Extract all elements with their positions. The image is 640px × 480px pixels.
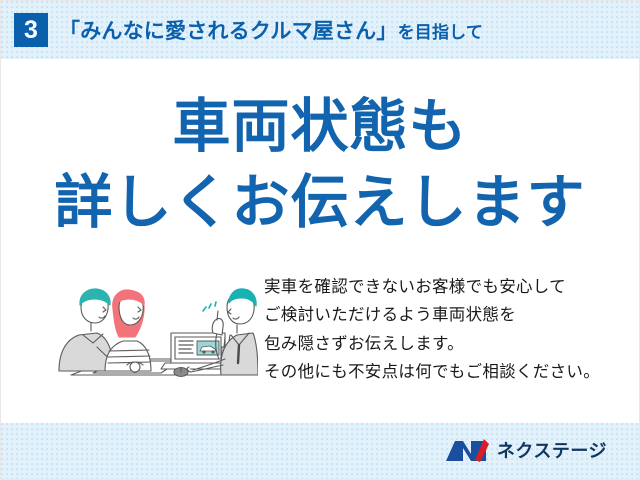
body-copy-line-4: その他にも不安点は何でもご相談ください。: [264, 358, 600, 386]
footer-band: ネクステージ: [1, 423, 639, 479]
brand-logo: ネクステージ: [444, 438, 607, 464]
body-copy-line-3: 包み隠さずお伝えします。: [264, 330, 600, 358]
consultation-illustration: [53, 271, 258, 383]
headline-line-1: 車両状態も: [1, 93, 639, 161]
header-band: 3 「みんなに愛されるクルマ屋さん」 を目指して: [1, 1, 639, 59]
consultation-illustration-svg: [53, 271, 258, 383]
body-copy-line-2: ご検討いただけるよう車両状態を: [264, 301, 600, 329]
nextage-n-logo-icon: [444, 438, 490, 464]
header-title: 「みんなに愛されるクルマ屋さん」 を目指して: [59, 15, 483, 45]
headline: 車両状態も 詳しくお伝えします: [1, 93, 639, 238]
brand-logo-text: ネクステージ: [497, 442, 607, 460]
body-copy-line-1: 実車を確認できないお客様でも安心して: [264, 273, 600, 301]
header-title-sub: を目指して: [398, 18, 484, 43]
section-number-badge: 3: [14, 13, 48, 47]
body-copy: 実車を確認できないお客様でも安心して ご検討いただけるよう車両状態を 包み隠さず…: [264, 271, 600, 387]
headline-line-2: 詳しくお伝えします: [1, 169, 639, 237]
main-content: 車両状態も 詳しくお伝えします: [1, 59, 639, 423]
promo-banner: 3 「みんなに愛されるクルマ屋さん」 を目指して 車両状態も 詳しくお伝えします: [0, 0, 640, 480]
header-title-main: 「みんなに愛されるクルマ屋さん」: [59, 15, 398, 45]
header-inner: 3 「みんなに愛されるクルマ屋さん」 を目指して: [1, 1, 639, 59]
lower-row: 実車を確認できないお客様でも安心して ご検討いただけるよう車両状態を 包み隠さず…: [1, 271, 639, 391]
